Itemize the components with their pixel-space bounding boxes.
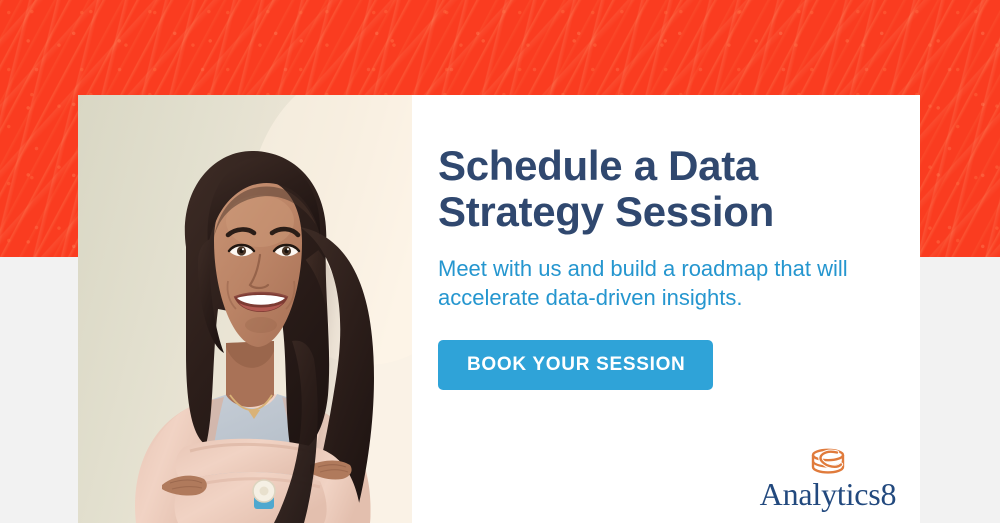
subtitle-text: Meet with us and build a roadmap that wi…: [438, 255, 918, 311]
promo-banner: Schedule a Data Strategy Session Meet wi…: [0, 0, 1000, 523]
page-title: Schedule a Data Strategy Session: [438, 143, 858, 235]
content-card: Schedule a Data Strategy Session Meet wi…: [78, 95, 920, 523]
analytics8-wordmark: Analytics8: [758, 478, 898, 510]
book-your-session-button[interactable]: BOOK YOUR SESSION: [438, 340, 713, 390]
text-panel: Schedule a Data Strategy Session Meet wi…: [412, 95, 920, 523]
analytics8-logo[interactable]: Analytics8: [758, 447, 898, 509]
database-cylinder-icon: [804, 447, 852, 477]
hero-photo: [78, 95, 412, 523]
